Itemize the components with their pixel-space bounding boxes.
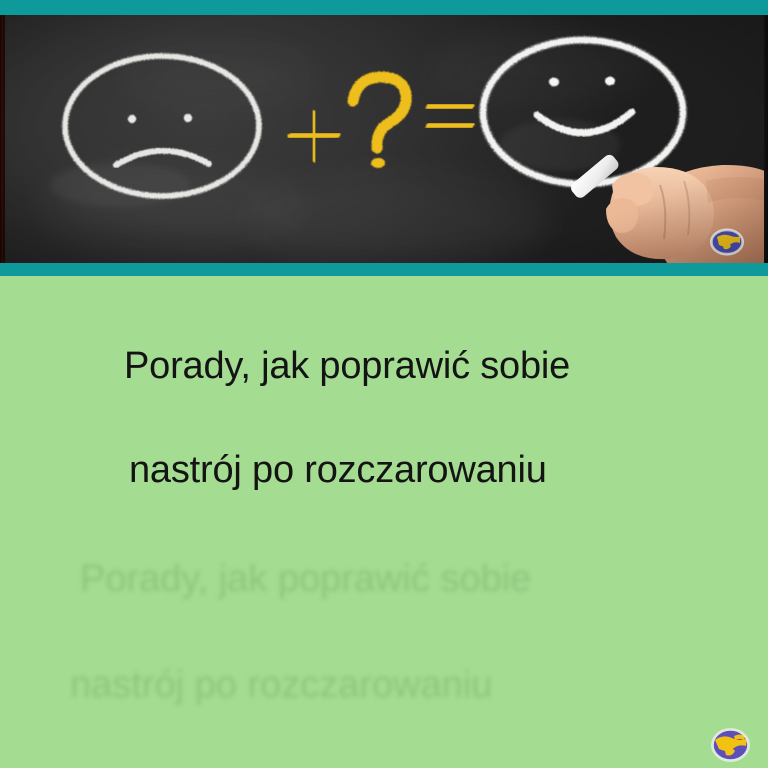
- question-mark-drawing: [353, 77, 406, 168]
- video-panel[interactable]: [0, 15, 768, 263]
- bottom-accent-bar: [0, 263, 768, 276]
- ghost-caption-line-2: nastrój po rozczarowaniu: [70, 664, 492, 707]
- top-accent-bar: [0, 0, 768, 15]
- globe-logo-icon: [709, 227, 745, 257]
- board-left-edge: [0, 15, 5, 263]
- board-right-edge: [764, 15, 768, 263]
- ghost-caption-line-1: Porady, jak poprawić sobie: [80, 558, 531, 601]
- globe-logo-icon: [710, 727, 751, 763]
- equals-sign-drawing: [430, 105, 470, 127]
- slide-canvas: Porady, jak poprawić sobie nastrój po ro…: [0, 0, 768, 768]
- plus-sign-drawing: [292, 115, 336, 158]
- caption-line-2: nastrój po rozczarowaniu: [129, 449, 547, 492]
- caption-area: Porady, jak poprawić sobie nastrój po ro…: [0, 276, 768, 768]
- caption-line-1: Porady, jak poprawić sobie: [124, 345, 570, 388]
